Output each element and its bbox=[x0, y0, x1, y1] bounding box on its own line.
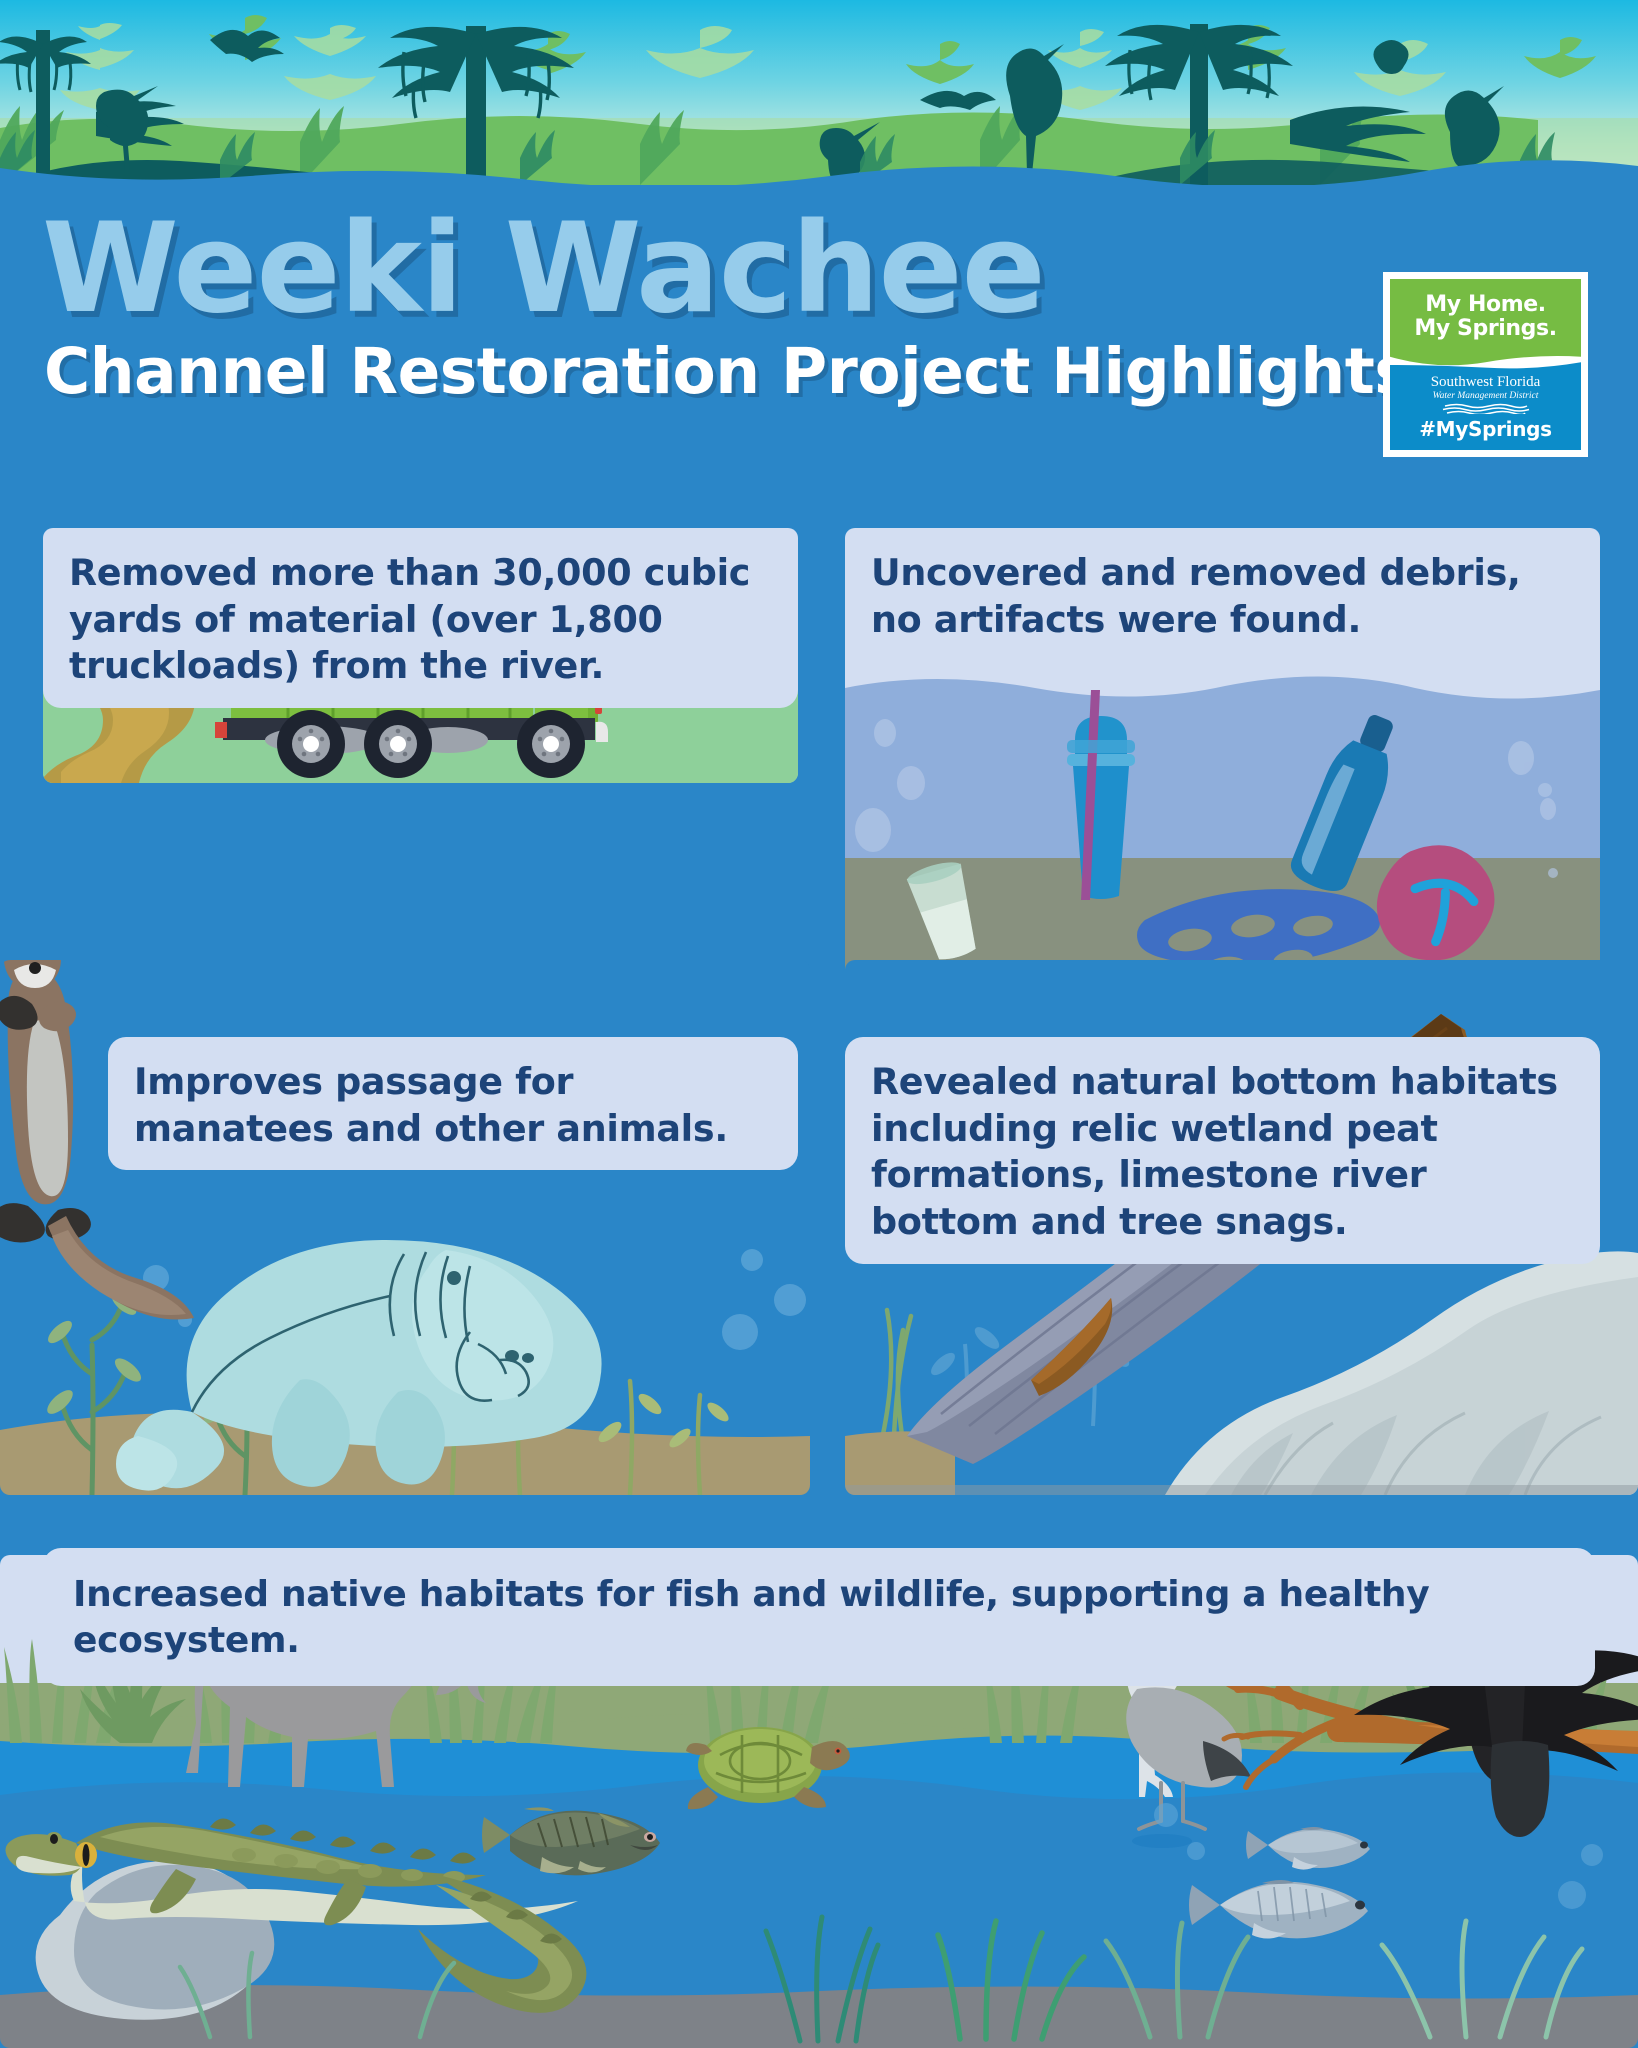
highlight-card-material-removed: Removed more than 30,000 cubic yards of … bbox=[43, 528, 798, 708]
swamp-banner-art bbox=[0, 0, 1638, 185]
logo-agency-line2: Water Management District bbox=[1390, 391, 1581, 401]
page-title: Weeki Wachee bbox=[42, 207, 1045, 331]
page-subtitle: Channel Restoration Project Highlights bbox=[44, 340, 1411, 403]
my-home-my-springs-logo: My Home. My Springs. Southwest Florida W… bbox=[1383, 272, 1588, 457]
logo-water-lines-icon bbox=[1441, 403, 1531, 414]
highlight-card-native-habitats: Increased native habitats for fish and w… bbox=[43, 1548, 1595, 1686]
logo-tagline: My Home. My Springs. bbox=[1390, 293, 1581, 342]
highlight-text-material-removed: Removed more than 30,000 cubic yards of … bbox=[69, 551, 750, 687]
logo-hashtag: #MySprings bbox=[1390, 417, 1581, 441]
infographic-poster: Weeki Wachee Channel Restoration Project… bbox=[0, 0, 1638, 2048]
logo-agency-name: Southwest Florida Water Management Distr… bbox=[1390, 375, 1581, 419]
logo-agency-line1: Southwest Florida bbox=[1390, 375, 1581, 391]
highlight-text-native-habitats: Increased native habitats for fish and w… bbox=[73, 1574, 1429, 1661]
highlight-text-debris: Uncovered and removed debris, no artifac… bbox=[871, 551, 1521, 641]
logo-tagline-line1: My Home. bbox=[1390, 293, 1581, 318]
highlight-card-debris: Uncovered and removed debris, no artifac… bbox=[845, 528, 1600, 661]
highlight-card-bottom-habitats: Revealed natural bottom habitats includi… bbox=[845, 1037, 1600, 1264]
swamp-silhouette-banner bbox=[0, 0, 1638, 185]
highlight-card-manatee-passage: Improves passage for manatees and other … bbox=[108, 1037, 798, 1170]
logo-tagline-line2: My Springs. bbox=[1390, 317, 1581, 342]
highlight-text-bottom-habitats: Revealed natural bottom habitats includi… bbox=[871, 1060, 1558, 1243]
highlight-text-manatee-passage: Improves passage for manatees and other … bbox=[134, 1060, 728, 1150]
